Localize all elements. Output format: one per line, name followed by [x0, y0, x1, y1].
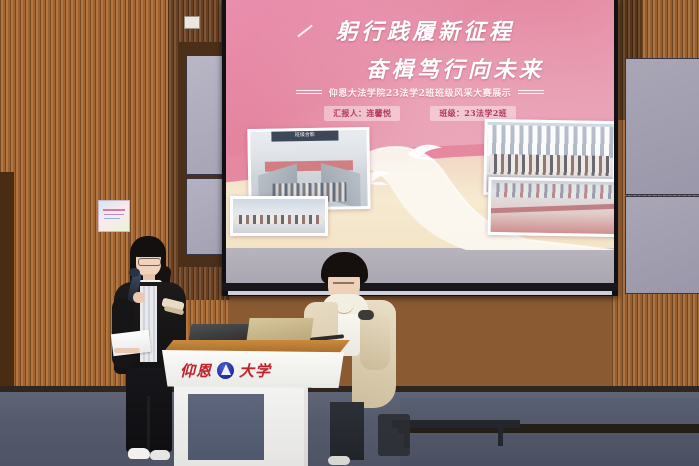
- leg-separation: [147, 396, 150, 452]
- slide-bottom-gray-band: [226, 248, 614, 288]
- screen-bottom-strip: [228, 291, 612, 295]
- small-white-sign: [184, 16, 200, 29]
- slide-title-line-1: 躬行践履新征程: [226, 14, 614, 46]
- microphone-head: [129, 268, 140, 277]
- poster-line: [104, 214, 124, 215]
- acoustic-panel-right-upper: [625, 58, 699, 195]
- slide-meta-row: 汇报人：连馨悦 班级：23法学2班: [226, 106, 614, 121]
- hair-fringe: [134, 244, 164, 257]
- glasses: [138, 258, 161, 266]
- photo-student-row: [489, 154, 610, 176]
- podium-text-left: 仰恩: [180, 360, 212, 381]
- slide-title-line-2: 奋楫笃行向未来: [226, 52, 614, 84]
- subtitle-rule-left: [296, 90, 322, 96]
- podium-panel-inset: [188, 394, 264, 460]
- side-table-leg: [498, 426, 503, 446]
- laptop-lid: [246, 318, 313, 342]
- slide-photo-corner: [230, 196, 328, 236]
- subtitle-rule-right: [518, 90, 544, 96]
- photo-people: [496, 183, 612, 199]
- slide-photo-caption: 班级合影: [271, 129, 338, 141]
- photo-building: [487, 125, 614, 158]
- shoe: [150, 450, 170, 460]
- trousers: [330, 402, 364, 460]
- poster-line: [104, 218, 120, 219]
- hand-holding-microphone: [133, 292, 145, 303]
- colorful-notice-poster: [98, 200, 130, 232]
- photo-track-line: [491, 204, 614, 213]
- chair-behind: [378, 414, 410, 456]
- slide-meta-presenter: 汇报人：连馨悦: [324, 106, 400, 121]
- acoustic-panel-right-lower: [625, 196, 699, 294]
- slide-photo-track: [488, 177, 614, 237]
- hair-fringe: [324, 264, 366, 277]
- screen-bottom-frame: [222, 283, 618, 291]
- arm: [360, 312, 390, 370]
- photo-content: [491, 180, 614, 234]
- hand: [358, 310, 374, 320]
- podium-branding: 仰恩 大学: [180, 358, 330, 382]
- photo-content: [233, 199, 325, 233]
- projection-screen: 躬行践履新征程 奋楫笃行向未来 仰恩大法学院23法学2班班级风采大赛展示 汇报人…: [226, 0, 614, 288]
- slide-subtitle: 仰恩大法学院23法学2班班级风采大赛展示: [329, 86, 512, 99]
- yangen-university-emblem-icon: [217, 362, 234, 379]
- podium-text-right: 大学: [239, 360, 271, 381]
- photo-student-row: [235, 215, 323, 225]
- eyebrow: [333, 282, 354, 284]
- poster-line: [103, 209, 125, 211]
- hand-holding-paper: [114, 348, 140, 353]
- lecture-hall-scene: 躬行践履新征程 奋楫笃行向未来 仰恩大法学院23法学2班班级风采大赛展示 汇报人…: [0, 0, 699, 466]
- laptop: [188, 324, 249, 342]
- shoe: [128, 448, 150, 459]
- shoe: [328, 456, 350, 465]
- slide-subtitle-row: 仰恩大法学院23法学2班班级风采大赛展示: [226, 86, 614, 99]
- slide-title-block: 躬行践履新征程 奋楫笃行向未来: [226, 14, 614, 84]
- wall-dark-door-edge: [0, 172, 14, 392]
